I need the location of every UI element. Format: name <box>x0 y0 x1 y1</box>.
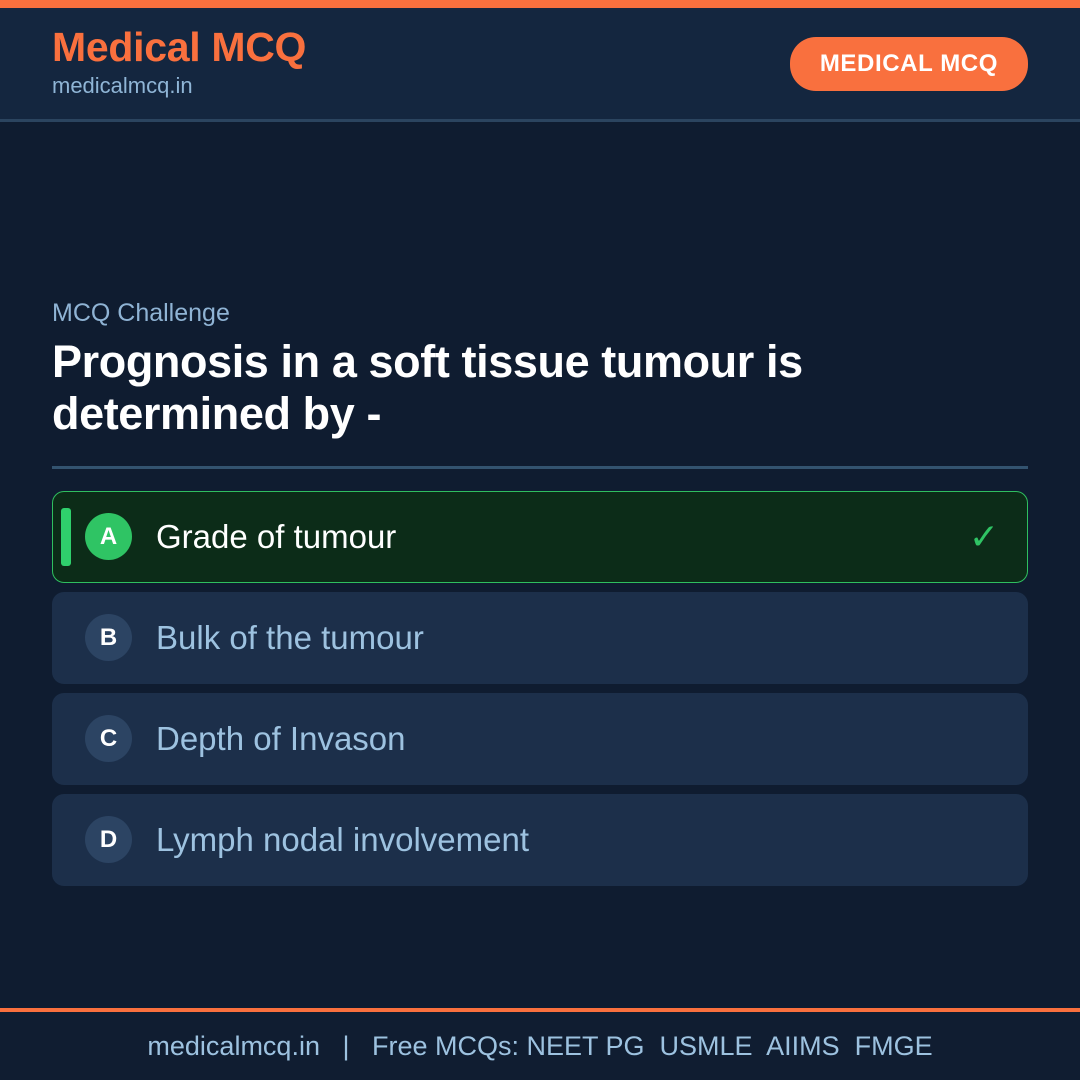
header-badge: MEDICAL MCQ <box>790 37 1028 91</box>
question-block: MCQ Challenge Prognosis in a soft tissue… <box>52 297 1028 469</box>
option-label: Lymph nodal involvement <box>156 820 999 860</box>
page-footer: medicalmcq.in | Free MCQs: NEET PG USMLE… <box>0 1008 1080 1080</box>
question-eyebrow: MCQ Challenge <box>52 297 1028 330</box>
question-text: Prognosis in a soft tissue tumour is det… <box>52 336 1028 440</box>
option-b[interactable]: BBulk of the tumour <box>52 592 1028 684</box>
option-letter-badge: C <box>85 715 132 762</box>
mcq-card-page: Medical MCQ medicalmcq.in MEDICAL MCQ MC… <box>0 0 1080 1080</box>
top-accent-rule <box>0 0 1080 8</box>
correct-accent-bar <box>61 508 71 566</box>
options-list: AGrade of tumour✓BBulk of the tumourCDep… <box>52 491 1028 886</box>
brand-subtitle: medicalmcq.in <box>52 71 306 102</box>
option-label: Depth of Invason <box>156 719 999 759</box>
question-divider <box>52 466 1028 469</box>
footer-text: medicalmcq.in | Free MCQs: NEET PG USMLE… <box>147 1031 932 1062</box>
option-c[interactable]: CDepth of Invason <box>52 693 1028 785</box>
main-content: MCQ Challenge Prognosis in a soft tissue… <box>0 122 1080 1008</box>
page-header: Medical MCQ medicalmcq.in MEDICAL MCQ <box>0 8 1080 122</box>
option-letter-badge: A <box>85 513 132 560</box>
option-label: Grade of tumour <box>156 517 953 557</box>
brand-block: Medical MCQ medicalmcq.in <box>52 25 306 102</box>
option-letter-badge: B <box>85 614 132 661</box>
option-a[interactable]: AGrade of tumour✓ <box>52 491 1028 583</box>
brand-title: Medical MCQ <box>52 25 306 69</box>
check-icon: ✓ <box>969 519 999 555</box>
option-letter-badge: D <box>85 816 132 863</box>
option-d[interactable]: DLymph nodal involvement <box>52 794 1028 886</box>
option-label: Bulk of the tumour <box>156 618 999 658</box>
